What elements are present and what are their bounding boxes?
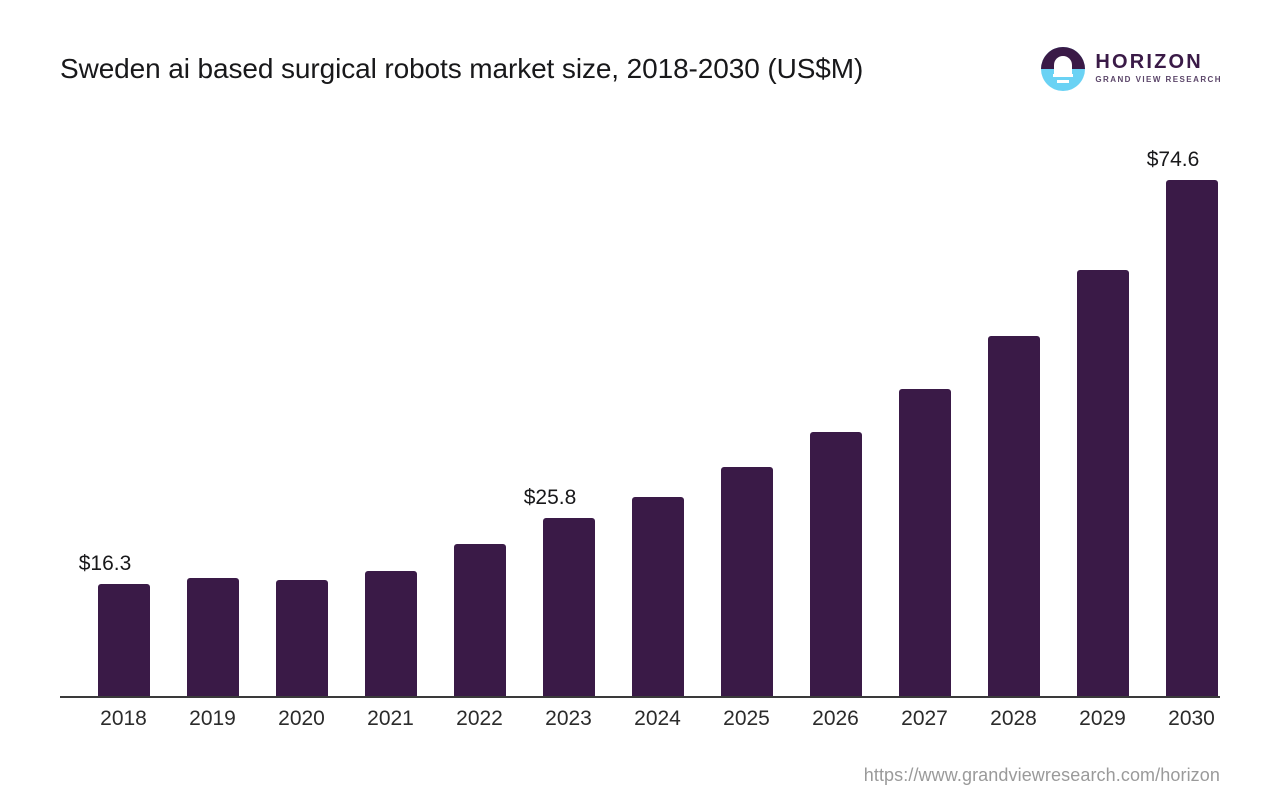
bar-2018[interactable] bbox=[98, 584, 150, 697]
x-tick-2028: 2028 bbox=[969, 707, 1058, 731]
bar-2019[interactable] bbox=[187, 578, 239, 697]
horizon-sun-icon bbox=[1041, 47, 1085, 91]
bar-2029[interactable] bbox=[1077, 270, 1129, 697]
bar-slot-2026 bbox=[791, 150, 880, 697]
bar-2020[interactable] bbox=[276, 580, 328, 697]
bar-2022[interactable] bbox=[454, 544, 506, 697]
bar-2025[interactable] bbox=[721, 467, 773, 697]
bar-slot-2023: $25.8 bbox=[524, 150, 613, 697]
logo-arch-shape bbox=[1054, 56, 1072, 74]
x-tick-2024: 2024 bbox=[613, 707, 702, 731]
bar-value-label-2030: $74.6 bbox=[1129, 148, 1217, 172]
x-tick-2027: 2027 bbox=[880, 707, 969, 731]
logo-ray-long bbox=[1053, 74, 1073, 77]
bar-slot-2019 bbox=[168, 150, 257, 697]
bar-slot-2018: $16.3 bbox=[79, 150, 168, 697]
bar-2028[interactable] bbox=[988, 336, 1040, 697]
bar-2021[interactable] bbox=[365, 571, 417, 697]
bar-2026[interactable] bbox=[810, 432, 862, 697]
bar-slot-2030: $74.6 bbox=[1147, 150, 1236, 697]
logo-ray-short bbox=[1057, 80, 1069, 83]
page-title: Sweden ai based surgical robots market s… bbox=[60, 48, 1020, 89]
chart-header: Sweden ai based surgical robots market s… bbox=[0, 0, 1280, 140]
bar-2027[interactable] bbox=[899, 389, 951, 697]
bar-slot-2025 bbox=[702, 150, 791, 697]
x-tick-2019: 2019 bbox=[168, 707, 257, 731]
bar-slot-2021 bbox=[346, 150, 435, 697]
logo-text-block: HORIZON GRAND VIEW RESEARCH bbox=[1095, 52, 1222, 86]
bar-slot-2020 bbox=[257, 150, 346, 697]
x-tick-2018: 2018 bbox=[79, 707, 168, 731]
bar-slot-2024 bbox=[613, 150, 702, 697]
logo-tagline: GRAND VIEW RESEARCH bbox=[1095, 74, 1222, 86]
bar-series: $16.3$25.8$74.6 bbox=[60, 150, 1220, 697]
bar-2023[interactable] bbox=[543, 518, 595, 697]
x-tick-2030: 2030 bbox=[1147, 707, 1236, 731]
x-tick-2025: 2025 bbox=[702, 707, 791, 731]
x-tick-2020: 2020 bbox=[257, 707, 346, 731]
bar-2024[interactable] bbox=[632, 497, 684, 697]
bar-slot-2029 bbox=[1058, 150, 1147, 697]
bar-value-label-2018: $16.3 bbox=[61, 552, 149, 576]
x-axis-line bbox=[60, 696, 1220, 698]
bar-2030[interactable] bbox=[1166, 180, 1218, 697]
chart-plot-area: $16.3$25.8$74.6 bbox=[60, 150, 1220, 698]
x-axis-tick-labels: 2018201920202021202220232024202520262027… bbox=[60, 707, 1220, 741]
logo-wordmark: HORIZON bbox=[1095, 52, 1222, 73]
horizon-logo: HORIZON GRAND VIEW RESEARCH bbox=[1041, 47, 1222, 91]
bar-slot-2027 bbox=[880, 150, 969, 697]
x-tick-2021: 2021 bbox=[346, 707, 435, 731]
bar-slot-2022 bbox=[435, 150, 524, 697]
x-tick-2022: 2022 bbox=[435, 707, 524, 731]
x-tick-2026: 2026 bbox=[791, 707, 880, 731]
source-url: https://www.grandviewresearch.com/horizo… bbox=[864, 765, 1220, 786]
x-tick-2023: 2023 bbox=[524, 707, 613, 731]
x-tick-2029: 2029 bbox=[1058, 707, 1147, 731]
bar-slot-2028 bbox=[969, 150, 1058, 697]
bar-value-label-2023: $25.8 bbox=[506, 486, 594, 510]
